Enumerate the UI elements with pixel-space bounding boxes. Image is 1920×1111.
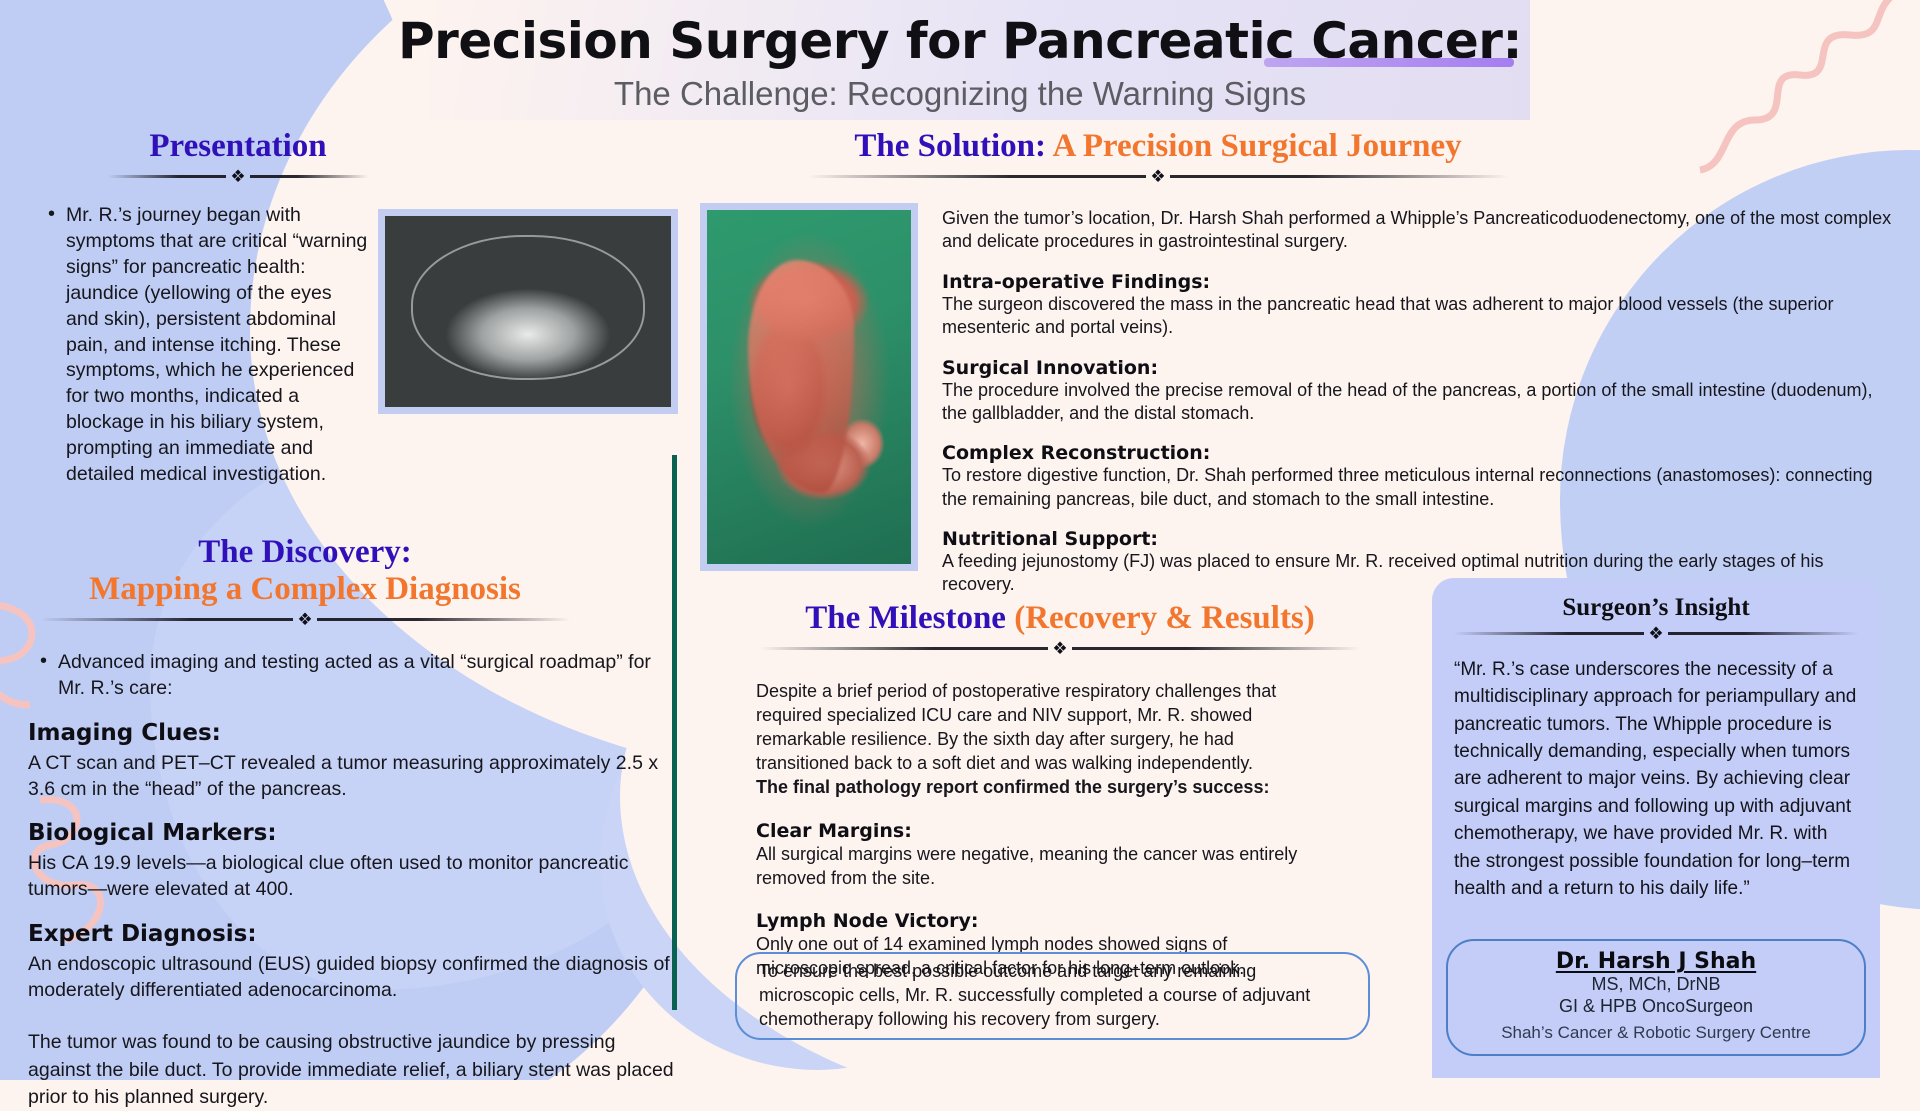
- presentation-text: Mr. R.’s journey began with symptoms tha…: [28, 203, 368, 488]
- poster-header: Precision Surgery for Pancreatic Cancer:…: [0, 0, 1920, 113]
- chemotherapy-callout-text: To ensure the best possible outcome and …: [759, 960, 1346, 1031]
- milestone-item-label: Lymph Node Victory:: [756, 910, 1300, 932]
- discovery-closing-text: The tumor was found to be causing obstru…: [28, 1029, 678, 1111]
- discovery-item-text: A CT scan and PET–CT revealed a tumor me…: [28, 751, 678, 802]
- divider-rule-right: [250, 175, 368, 178]
- vertical-divider-rule: [672, 455, 677, 1010]
- presentation-section-heading: Presentation ❖: [108, 128, 368, 185]
- surgeon-insight-panel: Surgeon’s Insight ❖ “Mr. R.’s case under…: [1432, 578, 1880, 1078]
- divider-rule-left: [40, 618, 293, 621]
- quatrefoil-ornament-icon: ❖: [1644, 625, 1667, 642]
- quatrefoil-ornament-icon: ❖: [1146, 168, 1169, 185]
- milestone-section-heading: The Milestone (Recovery & Results) ❖: [760, 600, 1360, 657]
- chemotherapy-callout-box: To ensure the best possible outcome and …: [735, 952, 1370, 1040]
- solution-heading-main: The Solution:: [854, 128, 1046, 164]
- solution-item-text: To restore digestive function, Dr. Shah …: [942, 464, 1900, 511]
- quatrefoil-ornament-icon: ❖: [1048, 640, 1071, 657]
- discovery-item-text: His CA 19.9 levels—a biological clue oft…: [28, 851, 678, 902]
- solution-intro-text: Given the tumor’s location, Dr. Harsh Sh…: [942, 207, 1900, 254]
- discovery-section-heading: The Discovery: Mapping a Complex Diagnos…: [40, 534, 570, 628]
- discovery-bullet-list: Advanced imaging and testing acted as a …: [28, 650, 678, 702]
- doctor-name: Dr. Harsh J Shah: [1458, 949, 1854, 974]
- list-item: Advanced imaging and testing acted as a …: [36, 650, 678, 702]
- quatrefoil-ornament-icon: ❖: [226, 168, 249, 185]
- doctor-centre: Shah’s Cancer & Robotic Surgery Centre: [1458, 1023, 1854, 1043]
- presentation-content-row: Mr. R.’s journey began with symptoms tha…: [28, 203, 678, 488]
- solution-item-text: The procedure involved the precise remov…: [942, 379, 1900, 426]
- solution-item-label: Surgical Innovation:: [942, 357, 1900, 379]
- surgical-specimen-image-frame: [700, 203, 918, 571]
- presentation-heading-text: Presentation: [108, 128, 368, 165]
- discovery-item-label: Imaging Clues:: [28, 720, 678, 746]
- solution-item: Intra-operative Findings: The surgeon di…: [942, 271, 1900, 340]
- section-divider: ❖: [40, 611, 570, 628]
- insight-section-heading: Surgeon’s Insight ❖: [1454, 594, 1858, 642]
- poster-page: Precision Surgery for Pancreatic Cancer:…: [0, 0, 1920, 1080]
- doctor-credentials-card: Dr. Harsh J Shah MS, MCh, DrNB GI & HPB …: [1446, 939, 1866, 1056]
- list-item: Mr. R.’s journey began with symptoms tha…: [44, 203, 368, 488]
- divider-rule-left: [1454, 632, 1644, 635]
- discovery-heading-accent: Mapping a Complex Diagnosis: [89, 571, 521, 607]
- divider-rule-right: [317, 618, 570, 621]
- discovery-item-label: Biological Markers:: [28, 820, 678, 846]
- solution-section-heading: The Solution: A Precision Surgical Journ…: [808, 128, 1508, 185]
- section-divider: ❖: [808, 168, 1508, 185]
- solution-item: Surgical Innovation: The procedure invol…: [942, 357, 1900, 426]
- solution-item-text: The surgeon discovered the mass in the p…: [942, 293, 1900, 340]
- title-highlight-underline: [1264, 58, 1514, 67]
- milestone-item-text: All surgical margins were negative, mean…: [756, 842, 1300, 890]
- divider-rule-right: [1668, 632, 1858, 635]
- divider-rule-right: [1072, 647, 1360, 650]
- milestone-item-label: Clear Margins:: [756, 820, 1300, 842]
- divider-rule-left: [808, 175, 1146, 178]
- discovery-item: Expert Diagnosis: An endoscopic ultrasou…: [28, 921, 678, 1003]
- solution-content-row: Given the tumor’s location, Dr. Harsh Sh…: [700, 203, 1900, 597]
- solution-heading-accent: A Precision Surgical Journey: [1052, 128, 1461, 164]
- insight-heading-text: Surgeon’s Insight: [1454, 594, 1858, 622]
- left-column: Presentation ❖ Mr. R.’s journey began wi…: [28, 128, 678, 1111]
- solution-item-label: Complex Reconstruction:: [942, 442, 1900, 464]
- milestone-intro-bold-text: The final pathology report confirmed the…: [756, 775, 1300, 799]
- milestone-text: Despite a brief period of postoperative …: [700, 679, 1300, 980]
- milestone-heading-main: The Milestone: [805, 600, 1006, 636]
- ct-scan-image: [385, 216, 671, 407]
- solution-item: Complex Reconstruction: To restore diges…: [942, 442, 1900, 511]
- section-divider: ❖: [108, 168, 368, 185]
- discovery-item: Biological Markers: His CA 19.9 levels—a…: [28, 820, 678, 902]
- divider-rule-left: [760, 647, 1048, 650]
- divider-rule-right: [1170, 175, 1508, 178]
- page-subtitle: The Challenge: Recognizing the Warning S…: [0, 75, 1920, 113]
- quatrefoil-ornament-icon: ❖: [293, 611, 316, 628]
- section-divider: ❖: [760, 640, 1360, 657]
- doctor-specialty: GI & HPB OncoSurgeon: [1458, 996, 1854, 1018]
- solution-column: The Solution: A Precision Surgical Journ…: [700, 128, 1900, 597]
- milestone-column: The Milestone (Recovery & Results) ❖ Des…: [700, 600, 1520, 980]
- divider-rule-left: [108, 175, 226, 178]
- milestone-item: Clear Margins: All surgical margins were…: [756, 820, 1300, 890]
- solution-text: Given the tumor’s location, Dr. Harsh Sh…: [942, 203, 1900, 597]
- milestone-intro-text: Despite a brief period of postoperative …: [756, 679, 1300, 775]
- ct-scan-image-frame: [378, 209, 678, 414]
- page-title: Precision Surgery for Pancreatic Cancer:: [398, 14, 1522, 69]
- discovery-heading-main: The Discovery:: [198, 534, 412, 570]
- milestone-heading-accent: (Recovery & Results): [1014, 600, 1315, 636]
- section-divider: ❖: [1454, 625, 1858, 642]
- discovery-item: Imaging Clues: A CT scan and PET–CT reve…: [28, 720, 678, 802]
- discovery-item-label: Expert Diagnosis:: [28, 921, 678, 947]
- insight-quote-text: “Mr. R.’s case underscores the necessity…: [1454, 656, 1858, 902]
- doctor-qualifications: MS, MCh, DrNB: [1458, 974, 1854, 996]
- solution-item-label: Nutritional Support:: [942, 528, 1900, 550]
- discovery-item-text: An endoscopic ultrasound (EUS) guided bi…: [28, 952, 678, 1003]
- surgical-specimen-image: [707, 210, 911, 564]
- solution-item-label: Intra-operative Findings:: [942, 271, 1900, 293]
- presentation-bullet-list: Mr. R.’s journey began with symptoms tha…: [44, 203, 368, 488]
